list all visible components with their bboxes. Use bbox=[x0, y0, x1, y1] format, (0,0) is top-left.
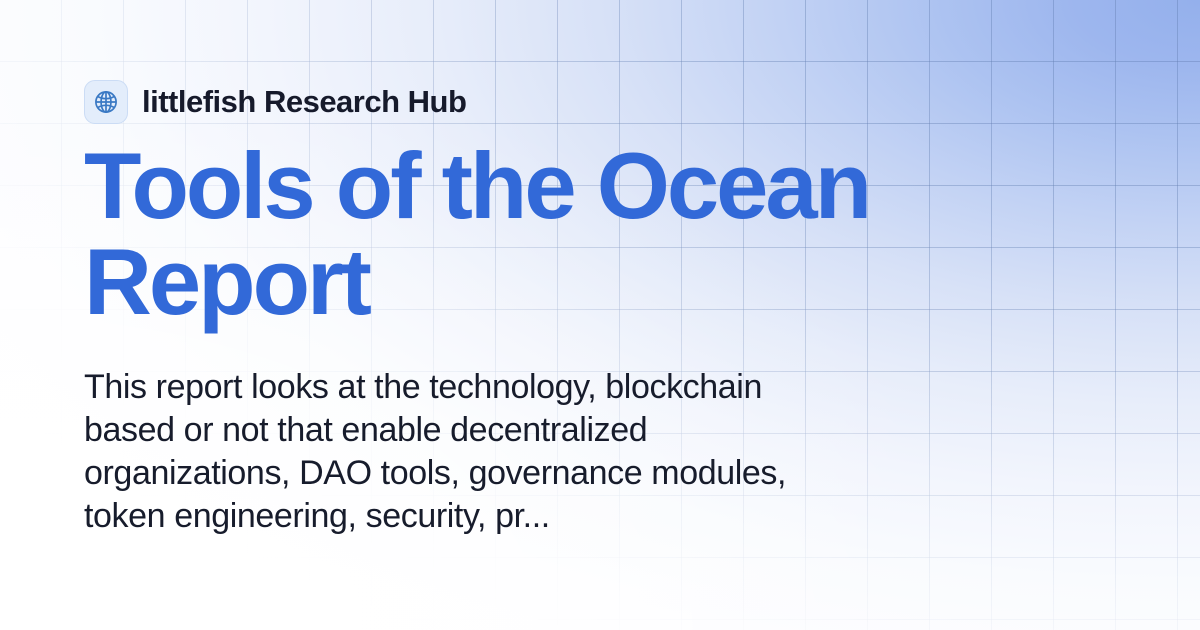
og-share-card: littlefish Research Hub Tools of the Oce… bbox=[0, 0, 1200, 630]
page-description: This report looks at the technology, blo… bbox=[84, 366, 794, 538]
page-title: Tools of the Ocean Report bbox=[84, 138, 964, 330]
brand-row: littlefish Research Hub bbox=[84, 78, 984, 126]
globe-icon bbox=[84, 80, 128, 124]
brand-name: littlefish Research Hub bbox=[142, 84, 466, 120]
card-content: littlefish Research Hub Tools of the Oce… bbox=[84, 78, 984, 538]
